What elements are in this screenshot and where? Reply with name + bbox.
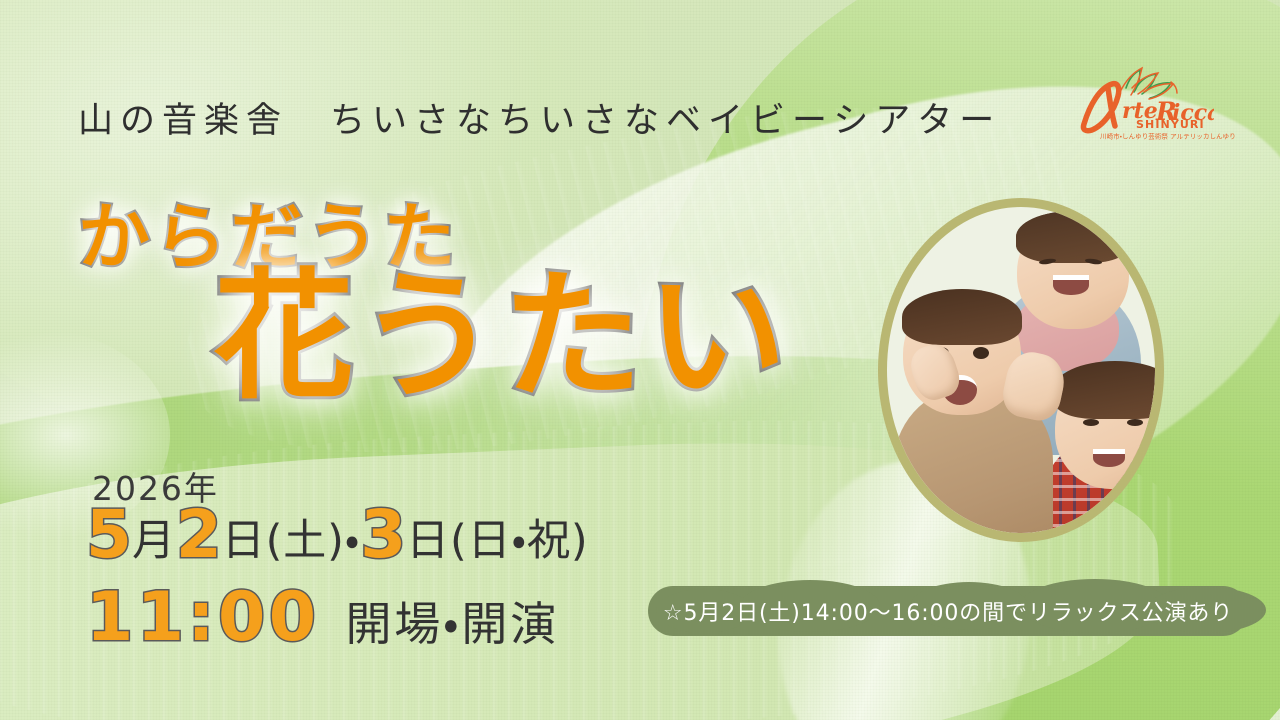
schedule-month-unit: 月 xyxy=(132,516,176,566)
baby-right-eye-right xyxy=(1127,419,1143,426)
baby-right-eye-left xyxy=(1083,419,1099,426)
logo-arte-ricca[interactable]: rte R icca SHINYURI 川崎市・しんゆり芸術祭 アルテリッカしん… xyxy=(1074,58,1214,150)
schedule-day1-label: 日(土)・ xyxy=(222,516,360,566)
schedule-day1-number: 2 xyxy=(176,496,222,573)
schedule-time: 11:00 xyxy=(86,578,319,657)
baby-right-hair xyxy=(1053,361,1155,419)
schedule-date-line: 5月2日(土)・3日(日・祝) xyxy=(86,502,589,568)
baby-right-mouth xyxy=(1093,449,1125,467)
relax-performance-note: ☆5月2日(土)14:00〜16:00の間でリラックス公演あり xyxy=(648,586,1248,636)
logo-sub-jp: 川崎市・しんゆり芸術祭 アルテリッカしんゆり xyxy=(1100,132,1236,141)
photo-circle-babies xyxy=(878,198,1164,542)
main-title-hanautai: 花うたい xyxy=(214,268,791,408)
logo-sub-en: SHINYURI xyxy=(1136,118,1205,131)
schedule-day2-label: 日(日・祝) xyxy=(406,516,588,566)
baby-top-hair-front xyxy=(1016,211,1130,263)
schedule-day2-number: 3 xyxy=(360,496,406,573)
photo-inner xyxy=(887,207,1155,533)
header-line: 山の音楽舎 ちいさなちいさなベイビーシアター xyxy=(78,92,1001,143)
schedule-month-number: 5 xyxy=(86,496,132,573)
poster-content: 山の音楽舎 ちいさなちいさなベイビーシアター からだうた 花うたい 2026年 … xyxy=(0,0,1280,720)
baby-left-eye-right xyxy=(973,347,989,359)
schedule-time-line: 11:00開場・開演 xyxy=(86,584,559,652)
baby-top-mouth xyxy=(1053,275,1089,295)
schedule-time-label: 開場・開演 xyxy=(345,597,558,651)
relax-note-text: ☆5月2日(土)14:00〜16:00の間でリラックス公演あり xyxy=(648,586,1248,636)
poster-root: 山の音楽舎 ちいさなちいさなベイビーシアター からだうた 花うたい 2026年 … xyxy=(0,0,1280,720)
baby-left-hair xyxy=(902,289,1022,345)
